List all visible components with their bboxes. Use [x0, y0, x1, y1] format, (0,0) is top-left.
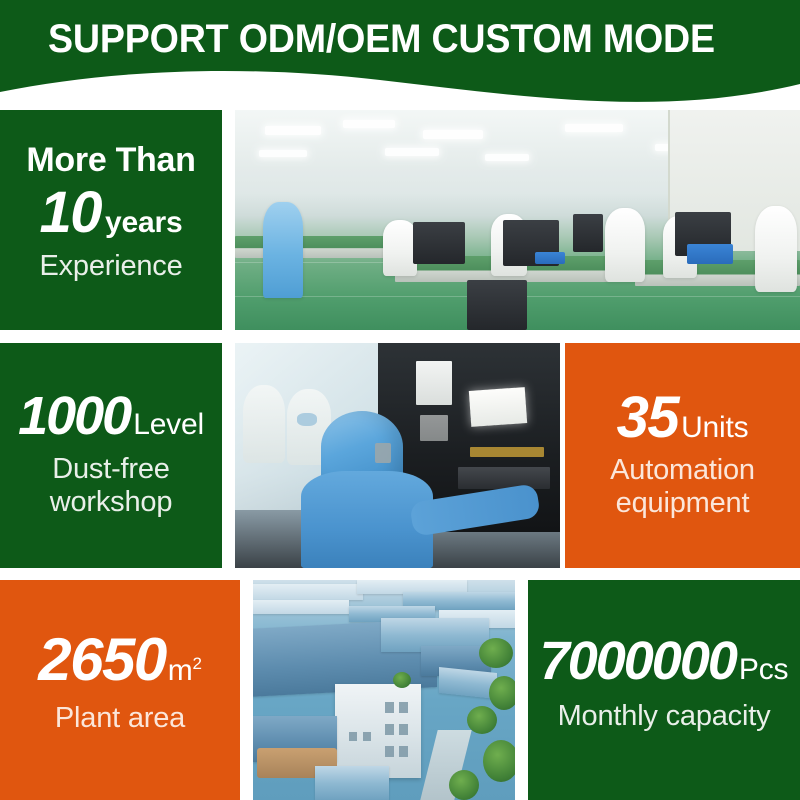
machine-stage: [458, 467, 550, 489]
factory-roof: [315, 766, 389, 800]
stat-unit-monthly-capacity: Pcs: [739, 653, 788, 686]
ceiling-light: [343, 120, 395, 128]
ceiling-light: [259, 150, 307, 157]
stat-unit-plant-area: m: [168, 654, 193, 687]
machine-marker: [470, 447, 544, 457]
ceiling-light: [385, 148, 439, 156]
tree: [393, 672, 411, 688]
factory-roof: [253, 600, 349, 614]
workbench: [235, 236, 385, 258]
stat-unit-automation-equipment: Units: [681, 411, 748, 444]
equipment-box: [467, 280, 527, 330]
page-title: SUPPORT ODM/OEM CUSTOM MODE: [48, 17, 715, 61]
stat-caption-monthly-capacity: Monthly capacity: [536, 700, 792, 733]
stat-kicker-experience: More Than: [8, 140, 214, 180]
stat-panel-automation-equipment: 35Units Automation equipment: [565, 343, 800, 568]
stat-panel-experience: More Than 10years Experience: [0, 110, 222, 330]
window: [385, 746, 394, 757]
ceiling-light: [565, 124, 623, 132]
stat-caption-plant-area: Plant area: [8, 702, 232, 735]
window: [399, 702, 408, 713]
tree: [449, 770, 479, 800]
ceiling-light: [423, 130, 483, 139]
machine-label: [416, 361, 452, 405]
tree: [467, 706, 497, 734]
photo-inspection-equipment: [235, 343, 560, 568]
office-building: [335, 684, 421, 778]
stat-unit-superscript-plant-area: 2: [193, 654, 202, 673]
machine-label: [420, 415, 448, 441]
worker-behind-glass: [243, 385, 285, 463]
worker-figure: [263, 202, 303, 298]
header-banner: SUPPORT ODM/OEM CUSTOM MODE: [0, 0, 800, 108]
window: [363, 732, 371, 741]
window: [399, 724, 408, 735]
stat-number-automation-equipment: 35: [617, 385, 679, 450]
worker-figure: [755, 206, 797, 292]
stat-caption-experience: Experience: [8, 250, 214, 283]
stat-panel-plant-area: 2650m2 Plant area: [0, 580, 240, 800]
stat-number-dust-free-workshop: 1000: [18, 386, 130, 446]
tree: [483, 740, 515, 782]
tree: [489, 676, 515, 710]
ceiling-light: [485, 154, 529, 161]
window: [385, 724, 394, 735]
window: [349, 732, 357, 741]
company-strength-banner: SUPPORT ODM/OEM CUSTOM MODE More Than 10…: [0, 0, 800, 800]
stat-panel-monthly-capacity: 7000000Pcs Monthly capacity: [528, 580, 800, 800]
stat-caption-automation-equipment-line1: Automation: [573, 454, 792, 487]
monitor: [573, 214, 603, 252]
stat-number-monthly-capacity: 7000000: [540, 631, 736, 691]
stat-caption-automation-equipment-line2: equipment: [573, 487, 792, 520]
machine-screen: [469, 387, 527, 427]
monitor: [413, 222, 465, 264]
face-mask: [297, 413, 317, 426]
stat-panel-dust-free-workshop: 1000Level Dust-free workshop: [0, 343, 222, 568]
photo-cleanroom-assembly: [235, 110, 800, 330]
worker-figure: [605, 208, 645, 282]
suit-patch: [375, 443, 391, 463]
photo-factory-aerial: [253, 580, 515, 800]
window: [385, 702, 394, 713]
tree: [479, 638, 513, 668]
stat-caption-dust-free-workshop-line1: Dust-free: [8, 453, 214, 486]
ceiling-light: [265, 126, 321, 135]
stat-unit-experience: years: [105, 206, 182, 239]
stat-number-plant-area: 2650: [38, 626, 165, 693]
worker-figure: [383, 220, 417, 276]
stat-unit-dust-free-workshop: Level: [133, 408, 204, 441]
factory-roof: [253, 584, 363, 600]
window: [399, 746, 408, 757]
stat-number-experience: 10: [40, 180, 102, 245]
parts-crate: [687, 244, 733, 264]
parts-crate: [535, 252, 565, 264]
stat-caption-dust-free-workshop-line2: workshop: [8, 486, 214, 519]
